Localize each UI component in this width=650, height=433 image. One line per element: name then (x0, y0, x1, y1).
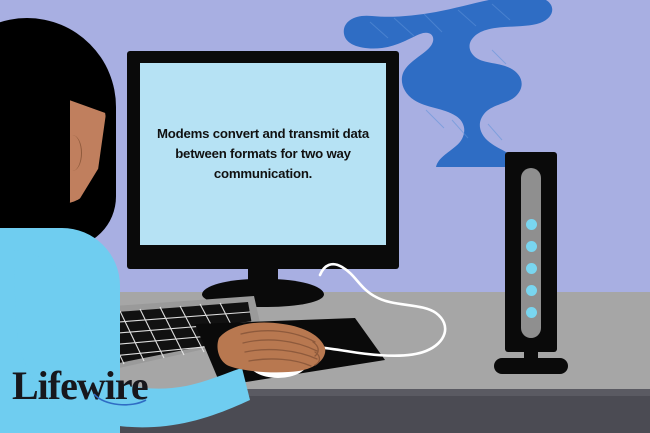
power-led (526, 219, 537, 230)
activity-led (526, 307, 537, 318)
cable-modem[interactable] (505, 152, 557, 352)
upstream-led (526, 263, 537, 274)
downstream-led (526, 241, 537, 252)
online-led (526, 285, 537, 296)
hair-front (0, 26, 70, 246)
logo-swoosh-icon (92, 392, 148, 410)
screen-message-text: Modems convert and transmit data between… (148, 124, 378, 184)
screen-message: Modems convert and transmit data between… (140, 63, 386, 245)
illustration-canvas: Modems convert and transmit data between… (0, 0, 650, 433)
hand (217, 322, 327, 374)
